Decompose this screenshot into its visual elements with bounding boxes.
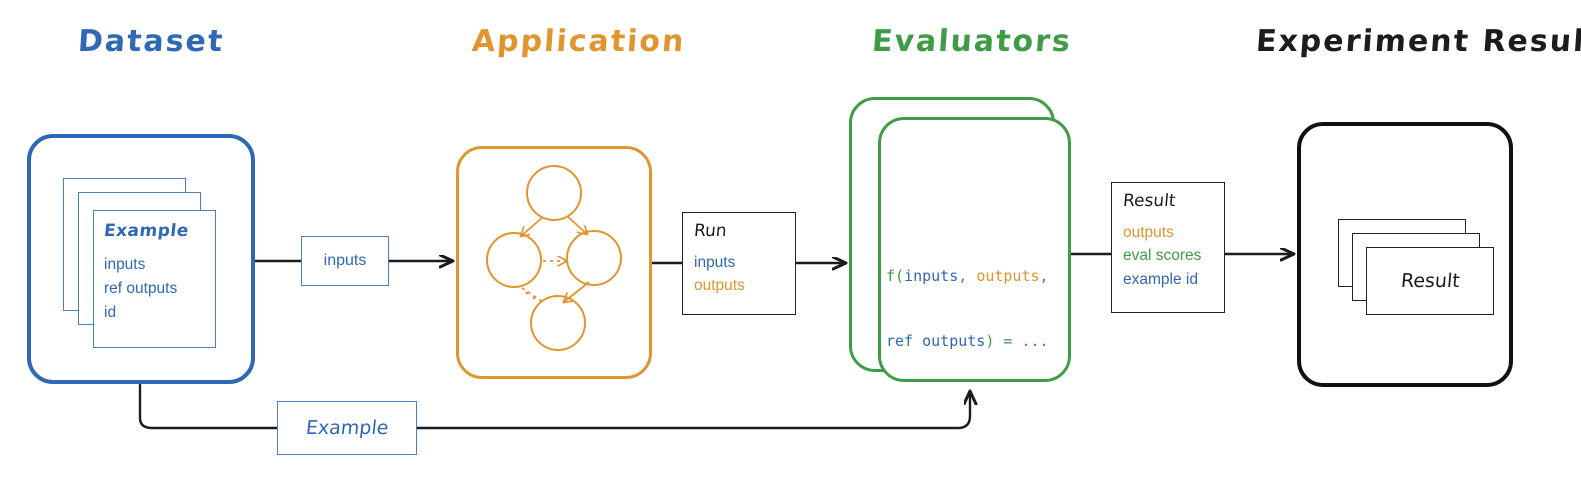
result-box-fields: outputs eval scores example id bbox=[1123, 221, 1224, 291]
result-field-outputs: outputs bbox=[1123, 221, 1224, 244]
formula-close: ) = ... bbox=[985, 332, 1048, 350]
result-box-title: Result bbox=[1122, 191, 1176, 211]
result-card-label: Result bbox=[1400, 270, 1461, 292]
section-title-evaluators: Evaluators bbox=[871, 24, 1073, 59]
formula-arg-outputs: outputs bbox=[976, 267, 1039, 285]
inputs-edge-label: inputs bbox=[324, 252, 367, 270]
evaluator-formula-line1: f(inputs, outputs, bbox=[886, 266, 1066, 288]
result-field-example-id: example id bbox=[1123, 268, 1224, 291]
formula-sep-1: , bbox=[958, 267, 976, 285]
section-title-application: Application bbox=[471, 24, 687, 59]
run-box[interactable]: Run inputs outputs bbox=[682, 212, 796, 315]
example-card-fields: inputs ref outputs id bbox=[104, 253, 215, 325]
wire-example-to-evaluators bbox=[417, 392, 970, 428]
example-edge-label: Example bbox=[305, 417, 390, 439]
inputs-edge-box[interactable]: inputs bbox=[301, 236, 389, 286]
formula-arg-inputs: inputs bbox=[904, 267, 958, 285]
formula-arg-ref-outputs: ref outputs bbox=[886, 332, 985, 350]
diagram-canvas: Dataset Application Evaluators Experimen… bbox=[0, 0, 1581, 477]
example-edge-box[interactable]: Example bbox=[277, 401, 417, 455]
example-card-title: Example bbox=[103, 221, 190, 241]
result-box[interactable]: Result outputs eval scores example id bbox=[1111, 182, 1225, 313]
result-field-eval-scores: eval scores bbox=[1123, 244, 1224, 267]
run-field-inputs: inputs bbox=[694, 251, 795, 274]
example-field-inputs: inputs bbox=[104, 253, 215, 277]
run-box-fields: inputs outputs bbox=[694, 251, 795, 298]
wire-dataset-to-example bbox=[140, 385, 277, 428]
section-title-dataset: Dataset bbox=[77, 24, 226, 59]
run-field-outputs: outputs bbox=[694, 274, 795, 297]
result-card-front[interactable]: Result bbox=[1366, 247, 1494, 315]
example-card-front[interactable]: Example inputs ref outputs id bbox=[93, 210, 216, 348]
section-title-experiment-results: Experiment Results bbox=[1255, 24, 1581, 59]
run-box-title: Run bbox=[693, 221, 727, 241]
example-field-ref-outputs: ref outputs bbox=[104, 277, 215, 301]
application-container bbox=[456, 146, 652, 379]
formula-fn-open: f( bbox=[886, 267, 904, 285]
formula-sep-2: , bbox=[1040, 267, 1049, 285]
evaluator-formula: f(inputs, outputs, ref outputs) = ... bbox=[886, 222, 1066, 396]
example-field-id: id bbox=[104, 301, 215, 325]
evaluator-formula-line2: ref outputs) = ... bbox=[886, 331, 1066, 353]
